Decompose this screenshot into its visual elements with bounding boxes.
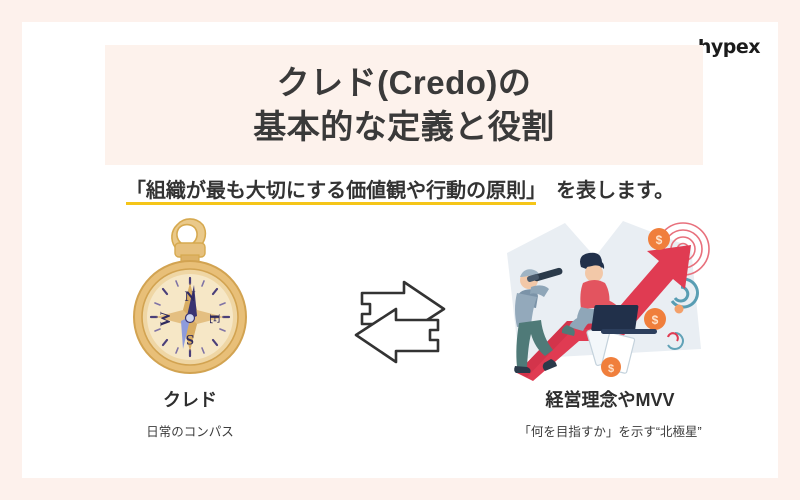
column-credo: N E S W クレド 日常のコンパス [55, 217, 325, 440]
growth-chart-illustration: $ $ $ [495, 217, 725, 382]
svg-text:N: N [185, 289, 196, 305]
bidirectional-arrow-icon [330, 277, 470, 377]
column-relation [325, 217, 475, 377]
mvv-caption-subtitle: 「何を目指すか」を示す“北極星” [518, 421, 701, 440]
hypex-logo: hypex [698, 36, 760, 58]
svg-text:$: $ [608, 363, 614, 375]
svg-text:W: W [158, 312, 174, 327]
page-title-line-2: 基本的な定義と役割 [253, 105, 555, 149]
comparison-content: N E S W クレド 日常のコンパス [22, 217, 778, 467]
compass-icon: N E S W [115, 217, 265, 382]
title-banner: クレド(Credo)の 基本的な定義と役割 [105, 45, 703, 165]
svg-text:E: E [206, 314, 222, 324]
svg-text:S: S [186, 331, 194, 347]
credo-caption-subtitle: 日常のコンパス [146, 421, 234, 440]
slide-frame: hypex クレド(Credo)の 基本的な定義と役割 「組織が最も大切にする価… [0, 0, 800, 500]
svg-text:$: $ [656, 233, 663, 247]
column-mvv: $ $ $ [475, 217, 745, 440]
svg-text:$: $ [652, 313, 659, 327]
growth-art: $ $ $ [495, 217, 725, 382]
subtitle: 「組織が最も大切にする価値観や行動の原則」 を表します。 [22, 174, 778, 203]
subtitle-highlight: 「組織が最も大切にする価値観や行動の原則」 [126, 180, 536, 205]
compass-art: N E S W [115, 217, 265, 382]
slide-card: hypex クレド(Credo)の 基本的な定義と役割 「組織が最も大切にする価… [22, 22, 778, 478]
subtitle-tail: を表します。 [536, 180, 674, 202]
page-title-line-1: クレド(Credo)の [277, 61, 532, 105]
credo-caption-title: クレド [163, 386, 217, 412]
mvv-caption-title: 経営理念やMVV [545, 386, 674, 412]
